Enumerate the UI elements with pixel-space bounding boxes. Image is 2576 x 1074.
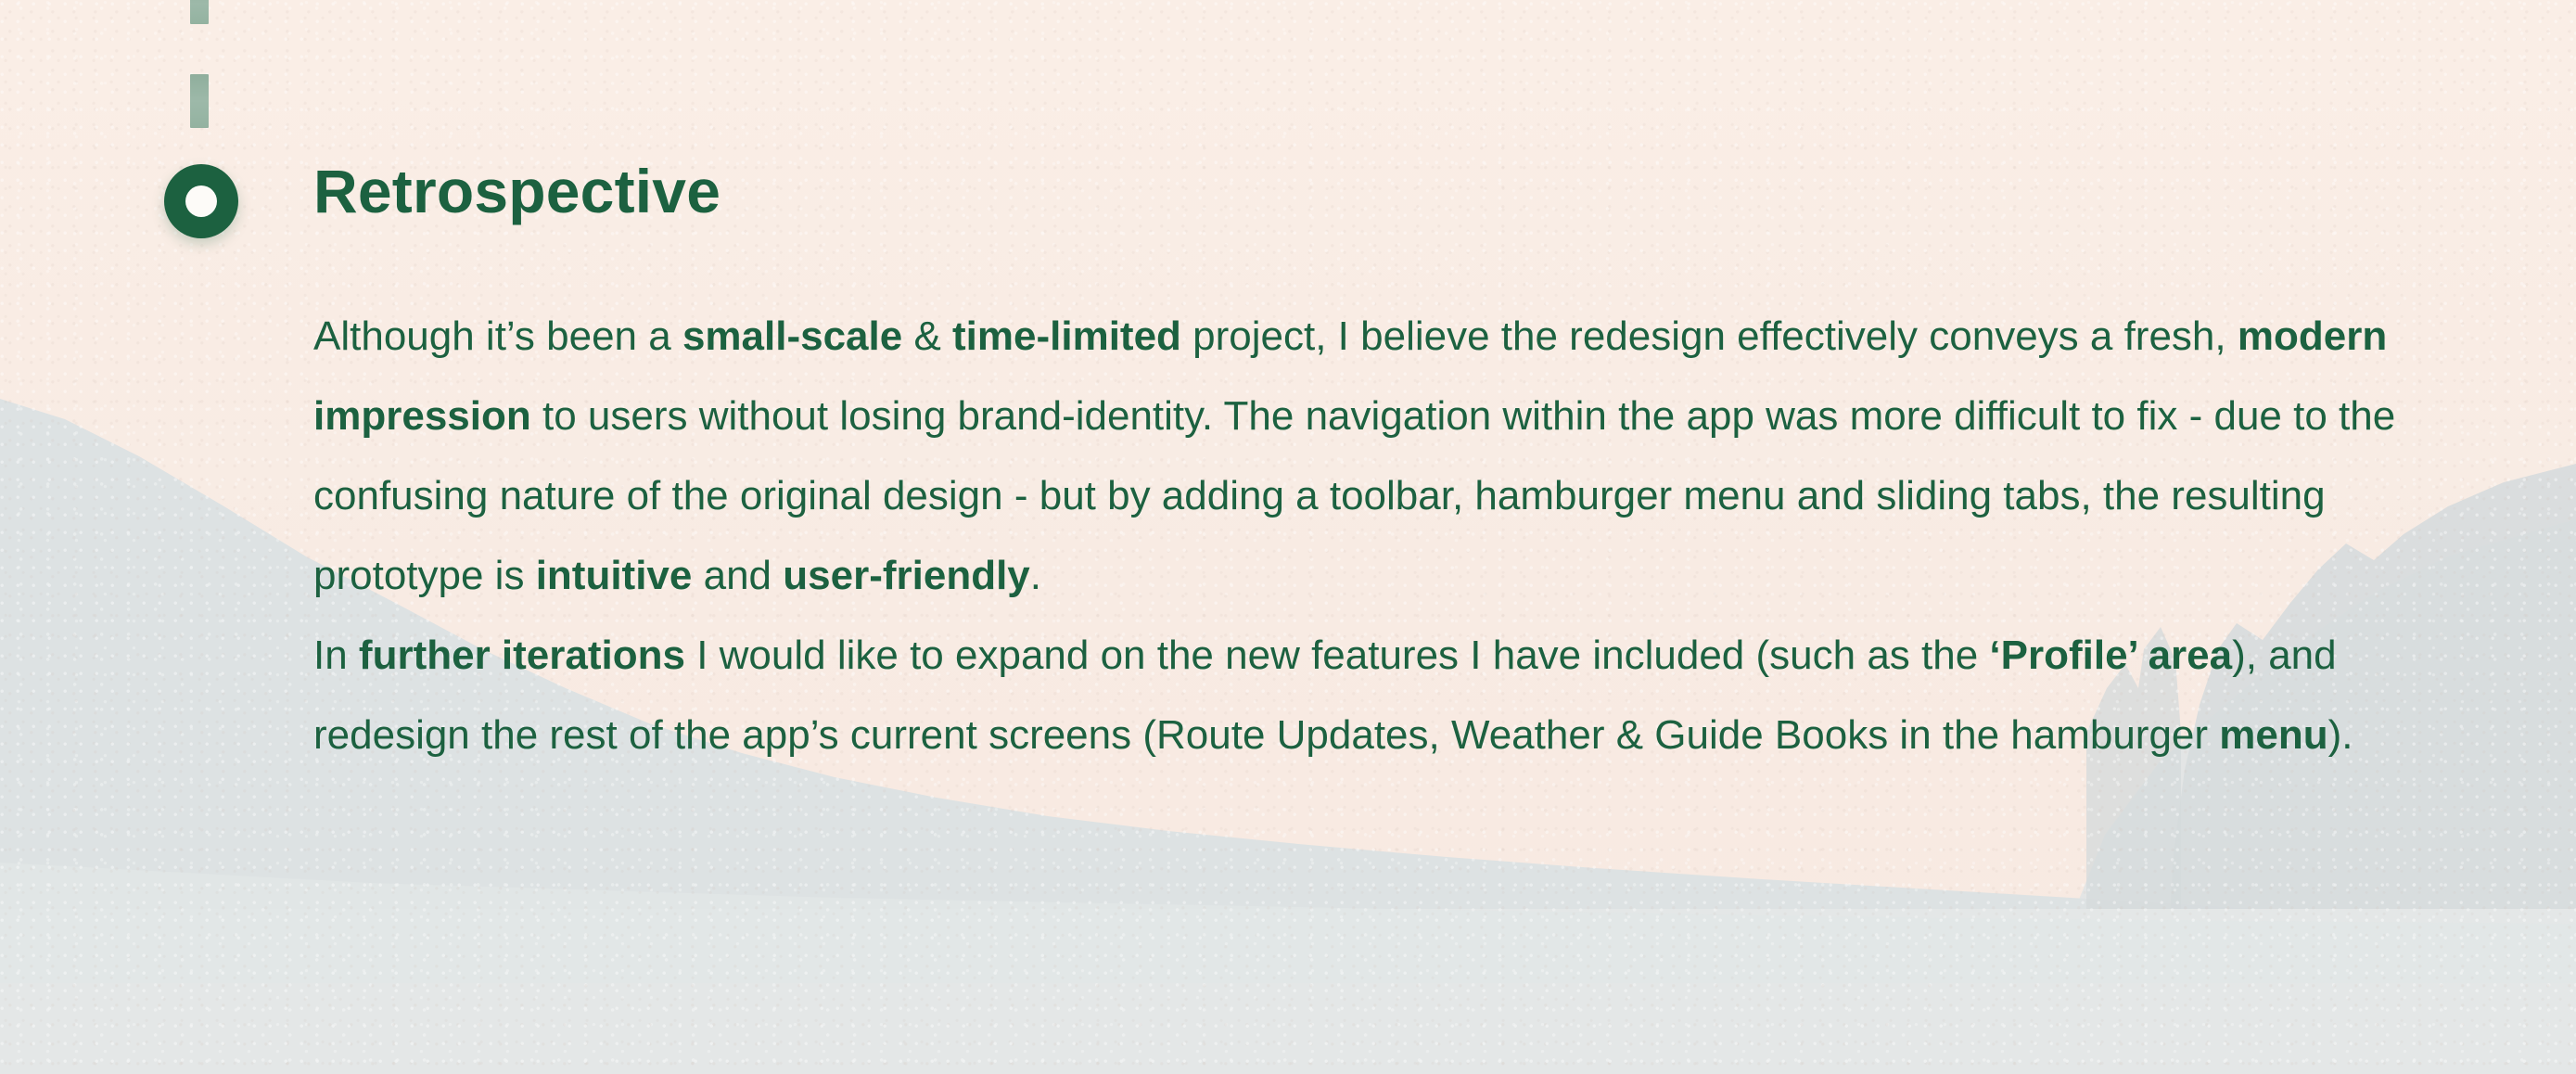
body-text: & bbox=[902, 313, 952, 359]
body-text: Although it’s been a bbox=[313, 313, 682, 359]
timeline-dash bbox=[190, 0, 209, 24]
emphasis-text: ‘Profile’ area bbox=[1989, 633, 2232, 678]
retrospective-body-text: Although it’s been a small-scale & time-… bbox=[313, 297, 2446, 775]
emphasis-text: time-limited bbox=[952, 313, 1181, 359]
paragraph: Although it’s been a small-scale & time-… bbox=[313, 297, 2446, 616]
page-title: Retrospective bbox=[313, 160, 721, 224]
body-text: ). bbox=[2328, 712, 2353, 758]
body-text: and bbox=[692, 553, 783, 598]
body-text: I would like to expand on the new featur… bbox=[685, 633, 1989, 678]
body-text: project, I believe the redesign effectiv… bbox=[1181, 313, 2238, 359]
emphasis-text: further iterations bbox=[359, 633, 685, 678]
paragraph: In further iterations I would like to ex… bbox=[313, 616, 2446, 775]
body-text: . bbox=[1030, 553, 1041, 598]
emphasis-text: menu bbox=[2219, 712, 2327, 758]
emphasis-text: intuitive bbox=[536, 553, 693, 598]
body-text: In bbox=[313, 633, 359, 678]
dashed-timeline-rail bbox=[190, 0, 209, 185]
retrospective-section: Retrospective Although it’s been a small… bbox=[0, 0, 2576, 1074]
timeline-ring-marker-icon bbox=[164, 164, 238, 238]
emphasis-text: user-friendly bbox=[783, 553, 1030, 598]
timeline-dash bbox=[190, 74, 209, 128]
emphasis-text: small-scale bbox=[682, 313, 902, 359]
